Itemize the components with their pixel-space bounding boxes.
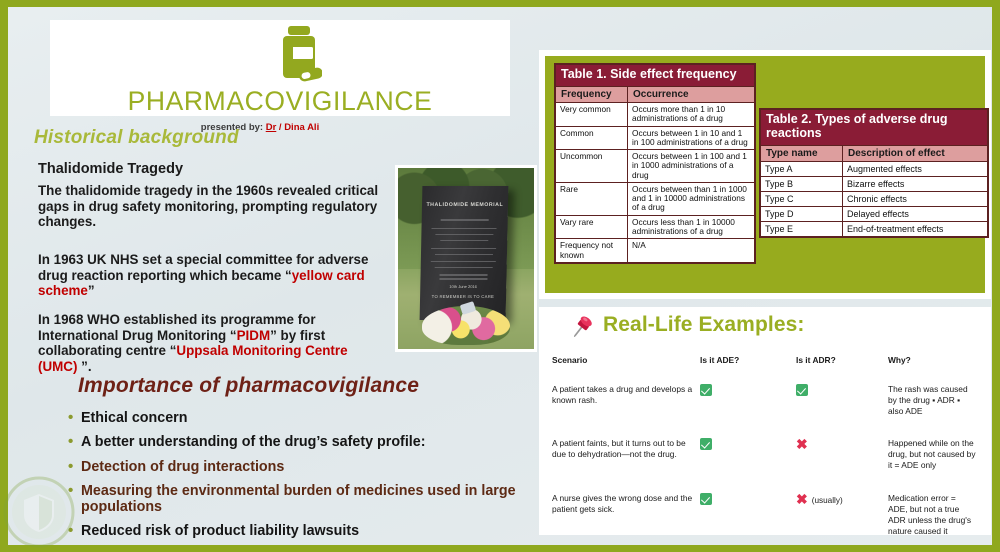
- cell-is-ade: [697, 431, 793, 485]
- slide-root: PHARMACOVIGILANCE presented by: Dr / Din…: [0, 0, 1000, 552]
- pushpin-icon: [569, 313, 597, 341]
- table-row: Frequency Occurrence: [556, 86, 755, 102]
- cell-occurrence: Occurs more than 1 in 10 administrations…: [628, 102, 755, 126]
- check-icon: [700, 384, 712, 396]
- table-row: A patient takes a drug and develops a kn…: [549, 377, 979, 431]
- pill-bottle-icon: [278, 26, 322, 88]
- cell-type: Type B: [761, 176, 843, 191]
- list-item: Detection of drug interactions: [68, 459, 538, 475]
- cell-type: Type E: [761, 222, 843, 237]
- cell-description: Chronic effects: [843, 191, 988, 206]
- cell-frequency: Uncommon: [556, 150, 628, 183]
- tables-green-backdrop: Table 1. Side effect frequency Frequency…: [545, 56, 985, 293]
- presenter-name: Dr / Dina Ali: [266, 122, 320, 133]
- memorial-motto: TO REMEMBER IS TO CARE: [420, 295, 506, 300]
- table-row: CommonOccurs between 1 in 10 and 1 in 10…: [556, 126, 755, 150]
- table1-col-frequency: Frequency: [556, 86, 628, 102]
- cell-is-adr: ✖: [793, 431, 885, 485]
- memorial-date: 10th June 2016: [420, 284, 506, 289]
- cell-occurrence: Occurs between 1 in 10 and 1 in 100 admi…: [628, 126, 755, 150]
- importance-heading: Importance of pharmacovigilance: [78, 374, 419, 398]
- thalidomide-tragedy-subheading: Thalidomide Tragedy: [38, 161, 183, 177]
- table-row: Type AAugmented effects: [761, 161, 988, 176]
- check-icon: [796, 384, 808, 396]
- examples-table: Scenario Is it ADE? Is it ADR? Why? A pa…: [549, 351, 979, 551]
- historical-background-heading: Historical background: [34, 127, 239, 149]
- cell-frequency: Rare: [556, 182, 628, 215]
- table-row: Type name Description of effect: [761, 145, 988, 161]
- memorial-photo-inner: THALIDOMIDE MEMORIAL 10th June 2016 TO R…: [398, 168, 534, 349]
- cell-is-adr: ✖(usually): [793, 486, 885, 551]
- p3-post: ”.: [77, 359, 91, 374]
- shield-watermark-icon: [2, 475, 76, 549]
- cell-scenario: A patient takes a drug and develops a kn…: [549, 377, 697, 431]
- memorial-flowers: [422, 306, 509, 346]
- cell-is-ade: [697, 486, 793, 551]
- presenter-rest: / Dina Ali: [276, 122, 319, 133]
- p2-post: ”: [88, 283, 95, 298]
- cross-icon: ✖: [796, 493, 808, 505]
- cell-is-adr-note: (usually): [812, 496, 843, 505]
- cross-icon: ✖: [796, 438, 808, 450]
- presenter-title: Dr: [266, 122, 277, 133]
- col-scenario: Scenario: [549, 351, 697, 377]
- table-row: A patient faints, but it turns out to be…: [549, 431, 979, 485]
- col-is-adr: Is it ADR?: [793, 351, 885, 377]
- list-item: Measuring the environmental burden of me…: [68, 483, 538, 516]
- cell-scenario: A patient faints, but it turns out to be…: [549, 431, 697, 485]
- cell-frequency: Vary rare: [556, 215, 628, 239]
- table-row: Type CChronic effects: [761, 191, 988, 206]
- cell-description: Bizarre effects: [843, 176, 988, 191]
- col-is-ade: Is it ADE?: [697, 351, 793, 377]
- paragraph-who-pidm: In 1968 WHO established its programme fo…: [38, 312, 383, 374]
- cell-why: Happened while on the drug, but not caus…: [885, 431, 979, 485]
- table-side-effect-frequency: Table 1. Side effect frequency Frequency…: [554, 63, 756, 264]
- cell-description: Augmented effects: [843, 161, 988, 176]
- memorial-ribbon: [459, 301, 475, 315]
- col-why: Why?: [885, 351, 979, 377]
- cell-occurrence: Occurs less than 1 in 10000 administrati…: [628, 215, 755, 239]
- p3-highlight-pidm: PIDM: [237, 328, 270, 343]
- cell-is-adr: [793, 377, 885, 431]
- cell-scenario: A nurse gives the wrong dose and the pat…: [549, 486, 697, 551]
- table2-col-description: Description of effect: [843, 145, 988, 161]
- table-row: Very commonOccurs more than 1 in 10 admi…: [556, 102, 755, 126]
- cell-occurrence: N/A: [628, 239, 755, 263]
- left-content-column: PHARMACOVIGILANCE presented by: Dr / Din…: [30, 17, 530, 547]
- paragraph-yellow-card: In 1963 UK NHS set a special committee f…: [38, 252, 383, 299]
- check-icon: [700, 493, 712, 505]
- check-icon: [700, 438, 712, 450]
- page-title: PHARMACOVIGILANCE: [50, 86, 510, 117]
- table-adverse-drug-reaction-types: Table 2. Types of adverse drug reactions…: [759, 108, 989, 238]
- list-item: Ethical concern: [68, 410, 538, 426]
- table-row: Vary rareOccurs less than 1 in 10000 adm…: [556, 215, 755, 239]
- cell-type: Type D: [761, 206, 843, 221]
- tables-panel: Table 1. Side effect frequency Frequency…: [539, 50, 991, 299]
- list-item: Reduced risk of product liability lawsui…: [68, 523, 538, 539]
- table-row: Frequency not knownN/A: [556, 239, 755, 263]
- cell-why: The rash was caused by the drug ▪ ADR ▪ …: [885, 377, 979, 431]
- table2-title: Table 2. Types of adverse drug reactions: [761, 110, 988, 146]
- examples-heading: Real-Life Examples:: [603, 313, 804, 337]
- table2-col-type-name: Type name: [761, 145, 843, 161]
- table1-title: Table 1. Side effect frequency: [556, 65, 755, 87]
- table-row: Type BBizarre effects: [761, 176, 988, 191]
- cell-frequency: Very common: [556, 102, 628, 126]
- cell-type: Type A: [761, 161, 843, 176]
- cell-description: End-of-treatment effects: [843, 222, 988, 237]
- table-header-row: Scenario Is it ADE? Is it ADR? Why?: [549, 351, 979, 377]
- table-row: A nurse gives the wrong dose and the pat…: [549, 486, 979, 551]
- table-row: Type EEnd-of-treatment effects: [761, 222, 988, 237]
- cell-frequency: Common: [556, 126, 628, 150]
- memorial-stone: THALIDOMIDE MEMORIAL 10th June 2016 TO R…: [420, 186, 508, 320]
- real-life-examples-panel: Real-Life Examples: Scenario Is it ADE? …: [539, 307, 991, 535]
- cell-type: Type C: [761, 191, 843, 206]
- title-card: PHARMACOVIGILANCE: [50, 20, 510, 116]
- table1-col-occurrence: Occurrence: [628, 86, 755, 102]
- cell-occurrence: Occurs between 1 in 100 and 1 in 1000 ad…: [628, 150, 755, 183]
- cell-description: Delayed effects: [843, 206, 988, 221]
- list-item: A better understanding of the drug’s saf…: [68, 434, 538, 450]
- table-row: UncommonOccurs between 1 in 100 and 1 in…: [556, 150, 755, 183]
- thalidomide-memorial-photo: THALIDOMIDE MEMORIAL 10th June 2016 TO R…: [395, 165, 537, 352]
- paragraph-thalidomide: The thalidomide tragedy in the 1960s rev…: [38, 183, 383, 230]
- importance-bullet-list: Ethical concern A better understanding o…: [68, 410, 538, 548]
- slide-body: PHARMACOVIGILANCE presented by: Dr / Din…: [8, 7, 992, 545]
- table-row: RareOccurs between than 1 in 1000 and 1 …: [556, 182, 755, 215]
- cell-frequency: Frequency not known: [556, 239, 628, 263]
- memorial-stone-heading: THALIDOMIDE MEMORIAL: [422, 202, 508, 208]
- cell-why: Medication error = ADE, but not a true A…: [885, 486, 979, 551]
- cell-is-ade: [697, 377, 793, 431]
- cell-occurrence: Occurs between than 1 in 1000 and 1 in 1…: [628, 182, 755, 215]
- table-row: Type DDelayed effects: [761, 206, 988, 221]
